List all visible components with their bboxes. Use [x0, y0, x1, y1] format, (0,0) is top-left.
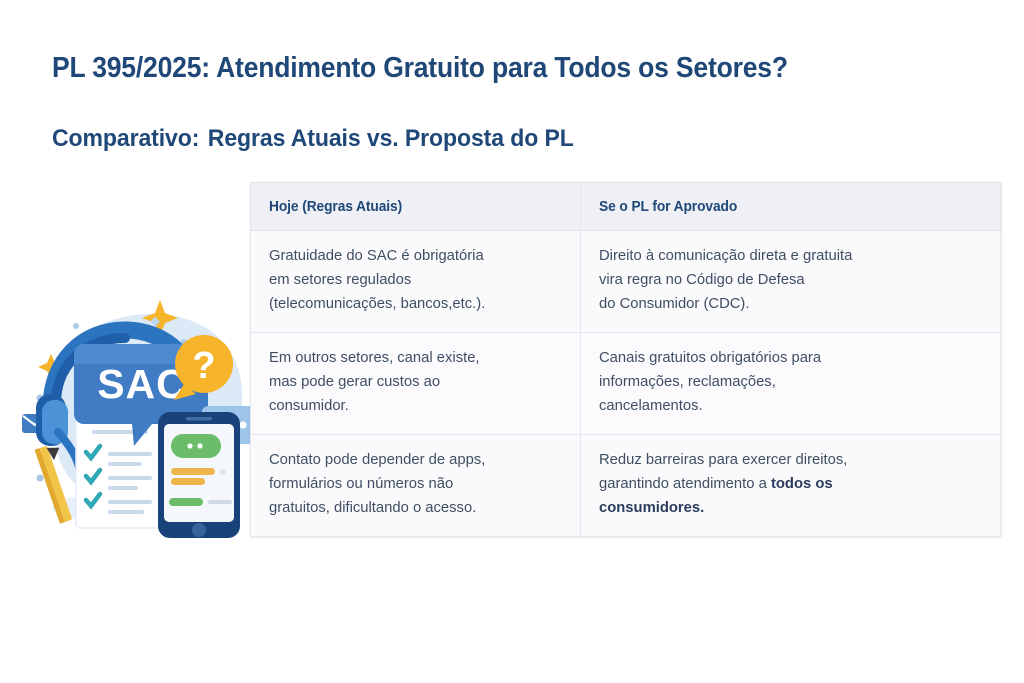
cell-current-rules-2: Em outros setores, canal existe, mas pod…	[251, 332, 581, 434]
table-row: Em outros setores, canal existe, mas pod…	[251, 332, 1001, 434]
cell-if-approved-1: Direito à comunicação direta e gratuita …	[581, 231, 1001, 333]
smartphone-illustration	[158, 412, 240, 538]
table-row: Gratuidade do SAC é obrigatória em setor…	[251, 231, 1001, 333]
column-header-if-approved: Se o PL for Aprovado	[581, 183, 1001, 231]
cell-current-rules-1: Gratuidade do SAC é obrigatória em setor…	[251, 231, 581, 333]
page-subtitle-lead: Comparativo:	[52, 125, 199, 152]
comparison-table: Hoje (Regras Atuais) Se o PL for Aprovad…	[250, 182, 1001, 537]
page-subtitle: Comparativo:Regras Atuais vs. Proposta d…	[52, 126, 574, 153]
emphasis-todos-os: todos os	[771, 476, 833, 492]
question-mark-label: ?	[192, 345, 215, 387]
table-row: Contato pode depender de apps, formulári…	[251, 434, 1001, 536]
table-header-row: Hoje (Regras Atuais) Se o PL for Aprovad…	[251, 183, 1001, 231]
sac-badge-label: SAC	[97, 361, 187, 407]
page-subtitle-rest: Regras Atuais vs. Proposta do PL	[208, 125, 574, 152]
sac-customer-service-illustration: SAC ?	[18, 282, 270, 540]
cell-if-approved-2: Canais gratuitos obrigatórios para infor…	[581, 332, 1001, 434]
cell-current-rules-3: Contato pode depender de apps, formulári…	[251, 434, 581, 536]
emphasis-consumidores: consumidores.	[599, 500, 704, 516]
column-header-current-rules: Hoje (Regras Atuais)	[251, 183, 581, 231]
page-title: PL 395/2025: Atendimento Gratuito para T…	[52, 53, 788, 84]
slide-canvas: PL 395/2025: Atendimento Gratuito para T…	[0, 0, 1024, 683]
cell-if-approved-3: Reduz barreiras para exercer direitos, g…	[581, 434, 1001, 536]
